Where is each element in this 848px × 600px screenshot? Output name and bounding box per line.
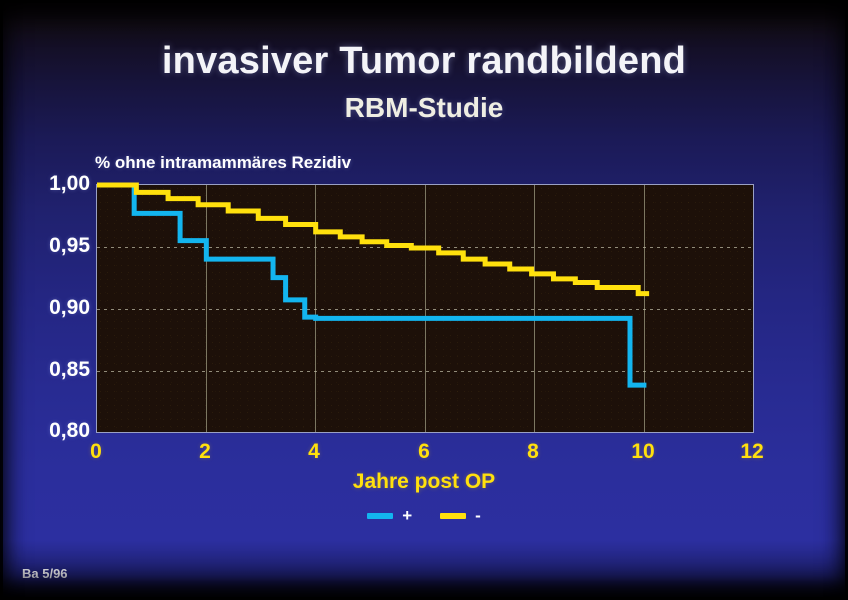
slide-canvas: invasiver Tumor randbildend RBM-Studie %… — [0, 0, 848, 600]
legend-label-minus: - — [475, 507, 481, 524]
y-tick-4: 0,85 — [18, 358, 90, 382]
slide-title: invasiver Tumor randbildend — [0, 40, 848, 83]
x-tick-10: 10 — [620, 440, 666, 464]
survival-curves — [97, 185, 753, 432]
x-axis-label: Jahre post OP — [0, 470, 848, 494]
legend-swatch-minus — [440, 513, 466, 519]
x-tick-4: 4 — [291, 440, 337, 464]
chart-legend: + - — [0, 507, 848, 524]
slide-subtitle: RBM-Studie — [0, 92, 848, 124]
y-tick-1: 1,00 — [18, 172, 90, 196]
legend-label-plus: + — [402, 507, 412, 524]
x-tick-2: 2 — [182, 440, 228, 464]
legend-swatch-plus — [367, 513, 393, 519]
curve-plus — [97, 185, 646, 385]
slide-footer: Ba 5/96 — [22, 566, 68, 581]
x-tick-8: 8 — [510, 440, 556, 464]
x-tick-12: 12 — [729, 440, 775, 464]
y-axis-label: % ohne intramammäres Rezidiv — [95, 153, 351, 173]
plot-area — [96, 184, 754, 433]
y-tick-3: 0,90 — [18, 296, 90, 320]
x-tick-6: 6 — [401, 440, 447, 464]
y-tick-2: 0,95 — [18, 234, 90, 258]
x-tick-0: 0 — [73, 440, 119, 464]
